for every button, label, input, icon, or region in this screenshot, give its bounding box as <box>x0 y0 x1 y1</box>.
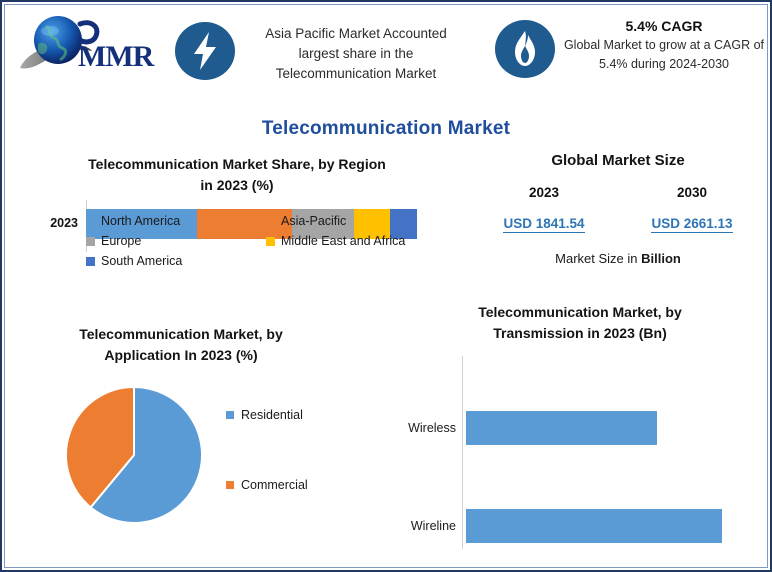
global-market-size-values: USD 1841.54 USD 2661.13 <box>470 216 766 231</box>
legend-item: Asia-Pacific <box>266 212 446 231</box>
header-highlight-text: Asia Pacific Market Accounted largest sh… <box>245 24 467 84</box>
region-share-title-line2: in 2023 (%) <box>20 175 454 196</box>
transmission-bar-row: Wireline <box>394 509 766 543</box>
transmission-bar <box>466 411 657 445</box>
legend-swatch-icon <box>226 411 234 419</box>
page-title: Telecommunication Market <box>2 118 770 140</box>
legend-label: Asia-Pacific <box>281 212 346 231</box>
legend-item: Europe <box>86 232 266 251</box>
region-legend: North AmericaAsia-PacificEuropeMiddle Ea… <box>86 212 446 272</box>
region-share-title: Telecommunication Market Share, by Regio… <box>20 154 454 196</box>
flame-icon <box>494 18 556 80</box>
application-pie-legend: ResidentialCommercial <box>226 408 406 492</box>
legend-swatch-icon <box>86 217 95 226</box>
global-market-size-years: 2023 2030 <box>470 185 766 200</box>
region-share-title-line1: Telecommunication Market Share, by Regio… <box>20 154 454 175</box>
legend-swatch-icon <box>86 237 95 246</box>
application-pie-title-line1: Telecommunication Market, by <box>16 324 346 345</box>
legend-swatch-icon <box>226 481 234 489</box>
legend-label: Europe <box>101 232 141 251</box>
legend-label: South America <box>101 252 182 271</box>
legend-swatch-icon <box>86 257 95 266</box>
market-size-unit-bold: Billion <box>641 251 681 266</box>
legend-label: Middle East and Africa <box>281 232 405 251</box>
pie-legend-item: Commercial <box>226 478 406 492</box>
cagr-block: 5.4% CAGR Global Market to grow at a CAG… <box>558 16 770 74</box>
legend-item: Middle East and Africa <box>266 232 446 251</box>
transmission-panel: Telecommunication Market, by Transmissio… <box>394 302 766 564</box>
region-axis-label: 2023 <box>32 216 78 230</box>
globe-swoosh-icon: MMR <box>16 10 166 82</box>
market-size-unit-prefix: Market Size in <box>555 251 641 266</box>
pie-legend-label: Commercial <box>241 478 308 492</box>
value-2030-text: USD 2661.13 <box>651 216 732 233</box>
lightning-bolt-icon <box>174 20 236 82</box>
application-pie-panel: Telecommunication Market, by Application… <box>16 324 416 564</box>
value-2023: USD 1841.54 <box>470 216 618 231</box>
flame-badge <box>494 18 556 80</box>
legend-swatch-icon <box>266 217 275 226</box>
legend-swatch-icon <box>266 237 275 246</box>
transmission-bar-row: Wireless <box>394 411 766 445</box>
header-strip: MMR Asia Pacific Market Accounted larges… <box>2 2 770 102</box>
cagr-headline: 5.4% CAGR <box>558 16 770 36</box>
year-2030-label: 2030 <box>618 185 766 200</box>
transmission-title: Telecommunication Market, by Transmissio… <box>394 302 766 344</box>
application-pie-title: Telecommunication Market, by Application… <box>16 324 346 366</box>
value-2023-text: USD 1841.54 <box>503 216 584 233</box>
infographic-root: MMR Asia Pacific Market Accounted larges… <box>0 0 772 572</box>
legend-item: North America <box>86 212 266 231</box>
market-size-unit-note: Market Size in Billion <box>470 251 766 266</box>
global-market-size-title: Global Market Size <box>470 152 766 169</box>
year-2023-label: 2023 <box>470 185 618 200</box>
application-pie-title-line2: Application In 2023 (%) <box>16 345 346 366</box>
transmission-title-line2: Transmission in 2023 (Bn) <box>394 323 766 344</box>
pie-svg <box>65 386 203 524</box>
transmission-title-line1: Telecommunication Market, by <box>394 302 766 323</box>
transmission-chart: WirelessWireline <box>394 356 766 556</box>
value-2030: USD 2661.13 <box>618 216 766 231</box>
legend-item: South America <box>86 252 266 271</box>
pie-legend-label: Residential <box>241 408 303 422</box>
transmission-bar <box>466 509 722 543</box>
pie-legend-item: Residential <box>226 408 406 422</box>
lightning-bolt-badge <box>174 20 236 82</box>
svg-text:MMR: MMR <box>78 40 155 73</box>
region-share-panel: Telecommunication Market Share, by Regio… <box>20 154 454 319</box>
cagr-description: Global Market to grow at a CAGR of 5.4% … <box>558 36 770 74</box>
transmission-category-label: Wireline <box>394 519 466 533</box>
global-market-size-panel: Global Market Size 2023 2030 USD 1841.54… <box>470 152 766 266</box>
mmr-logo: MMR <box>16 10 166 82</box>
legend-label: North America <box>101 212 180 231</box>
transmission-category-label: Wireless <box>394 421 466 435</box>
application-pie-chart <box>65 386 203 524</box>
